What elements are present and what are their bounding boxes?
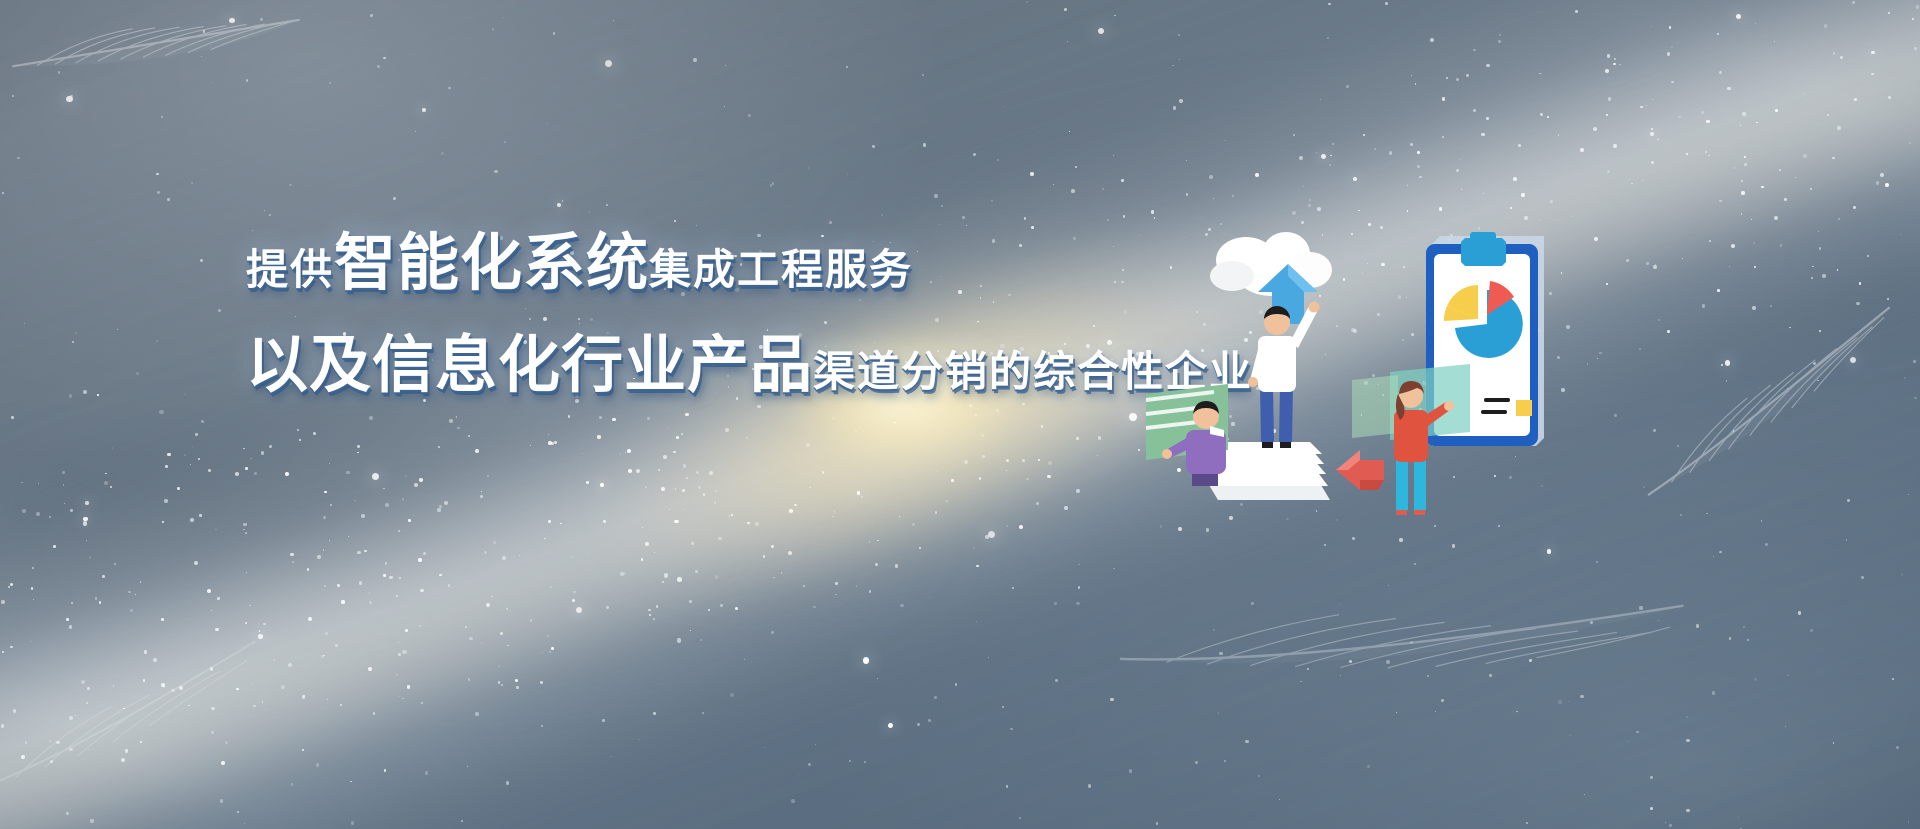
headline-line2-seg1: 以及 — [246, 334, 372, 396]
feather-icon-bottom-left — [0, 625, 277, 806]
headline-line2-seg2: 信息化行业产品 — [372, 334, 813, 396]
red-arrow-block — [1336, 450, 1384, 490]
headline-line1-seg3: 集成工程服务 — [649, 249, 913, 291]
hero-banner: 提供智能化系统集成工程服务 以及信息化行业产品渠道分销的综合性企业 — [0, 0, 1920, 829]
person-standing-male — [1248, 302, 1320, 449]
illustration-cloud-data-teamwork — [1140, 218, 1620, 548]
legend-swatch — [1516, 400, 1532, 416]
headline-line1-seg2: 智能化系统 — [334, 232, 649, 294]
headline-line1-seg1: 提供 — [246, 249, 334, 291]
